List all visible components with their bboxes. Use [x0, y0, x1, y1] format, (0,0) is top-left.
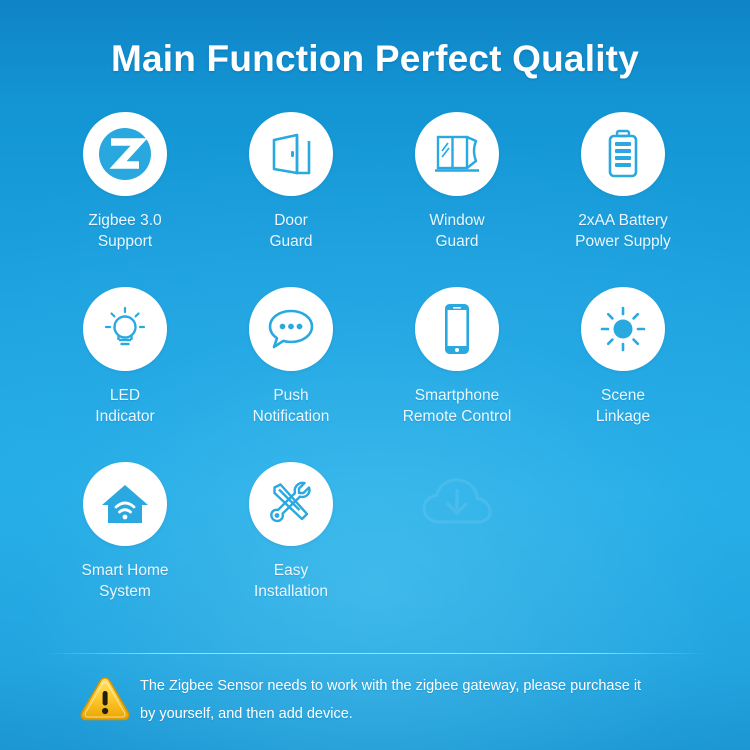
- feature-label: Smartphone Remote Control: [403, 385, 512, 427]
- feature-row: LED Indicator Push Notification: [42, 287, 708, 462]
- feature-item-push-notification[interactable]: Push Notification: [208, 287, 374, 462]
- feature-item-window-guard[interactable]: Window Guard: [374, 112, 540, 287]
- house-wifi-icon: [83, 462, 167, 546]
- feature-item-smartphone[interactable]: Smartphone Remote Control: [374, 287, 540, 462]
- warning-triangle-icon: [78, 674, 134, 729]
- feature-grid: Zigbee 3.0 Support Door Guard: [42, 112, 708, 637]
- promo-page: Main Function Perfect Quality Zigbee 3.0…: [0, 0, 750, 750]
- feature-label: 2xAA Battery Power Supply: [575, 210, 671, 252]
- feature-row: Zigbee 3.0 Support Door Guard: [42, 112, 708, 287]
- feature-label: Smart Home System: [82, 560, 169, 602]
- wrench-screwdriver-icon: [249, 462, 333, 546]
- door-icon: [249, 112, 333, 196]
- section-divider: [42, 653, 708, 654]
- smartphone-icon: [415, 287, 499, 371]
- feature-item-door-guard[interactable]: Door Guard: [208, 112, 374, 287]
- cloud-download-watermark-icon: [415, 462, 499, 546]
- feature-item-easy-installation[interactable]: Easy Installation: [208, 462, 374, 637]
- feature-label: Easy Installation: [254, 560, 328, 602]
- notice-line-2: by yourself, and then add device.: [140, 700, 641, 728]
- feature-label: Door Guard: [269, 210, 312, 252]
- feature-label: Window Guard: [429, 210, 484, 252]
- feature-item-scene-linkage[interactable]: Scene Linkage: [540, 287, 706, 462]
- feature-label: LED Indicator: [95, 385, 154, 427]
- sun-icon: [581, 287, 665, 371]
- notice-banner: The Zigbee Sensor needs to work with the…: [78, 672, 698, 729]
- feature-item-empty: [540, 462, 706, 637]
- feature-label: Push Notification: [253, 385, 330, 427]
- feature-item-zigbee[interactable]: Zigbee 3.0 Support: [42, 112, 208, 287]
- feature-item-watermark: [374, 462, 540, 637]
- feature-item-battery[interactable]: 2xAA Battery Power Supply: [540, 112, 706, 287]
- zigbee-logo-icon: [83, 112, 167, 196]
- page-title: Main Function Perfect Quality: [0, 38, 750, 80]
- feature-row: Smart Home System Easy Installation: [42, 462, 708, 637]
- light-bulb-icon: [83, 287, 167, 371]
- notice-line-1: The Zigbee Sensor needs to work with the…: [140, 672, 641, 700]
- window-icon: [415, 112, 499, 196]
- notice-text: The Zigbee Sensor needs to work with the…: [134, 672, 641, 728]
- battery-icon: [581, 112, 665, 196]
- feature-label: Zigbee 3.0 Support: [88, 210, 161, 252]
- speech-bubble-icon: [249, 287, 333, 371]
- feature-item-smart-home[interactable]: Smart Home System: [42, 462, 208, 637]
- feature-label: Scene Linkage: [596, 385, 650, 427]
- feature-item-led-indicator[interactable]: LED Indicator: [42, 287, 208, 462]
